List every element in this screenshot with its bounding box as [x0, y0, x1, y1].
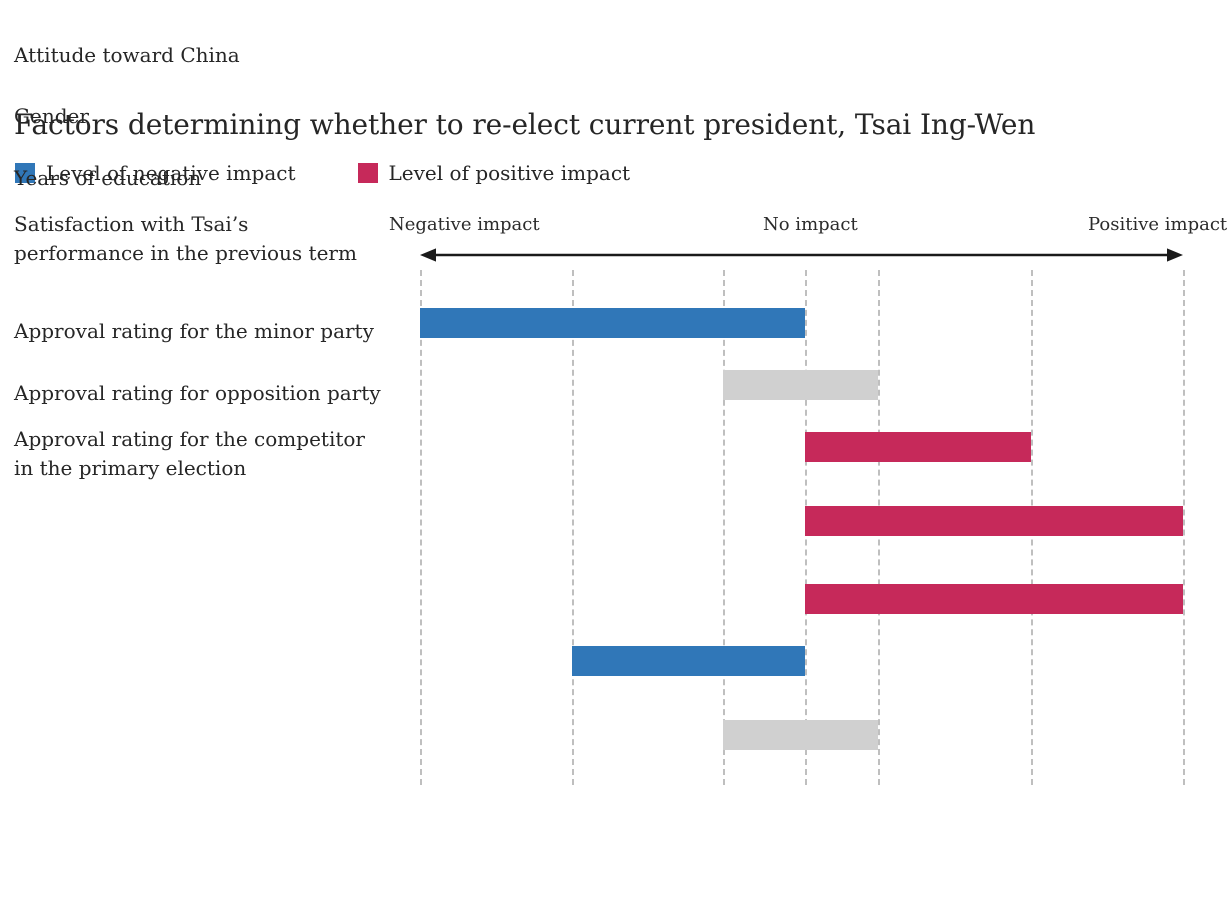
- page-title: Factors determining whether to re-elect …: [14, 108, 1035, 141]
- bidirectional-arrow-icon: [420, 248, 1183, 262]
- axis-label-negative-impact: Negative impact: [389, 214, 540, 235]
- category-label-satisfaction-performance: Satisfaction with Tsai’s performance in …: [14, 210, 357, 268]
- gridline: [1183, 270, 1185, 785]
- category-label-gender: Gender: [14, 102, 89, 131]
- legend-swatch-positive-icon: [358, 163, 378, 183]
- bar-attitude-toward-china[interactable]: [420, 308, 805, 338]
- bar-gender[interactable]: [723, 370, 878, 400]
- bar-minor-party[interactable]: [805, 584, 1183, 614]
- legend-label-positive: Level of positive impact: [389, 163, 631, 183]
- chart-page: Factors determining whether to re-elect …: [0, 0, 1232, 912]
- category-label-years-of-education: Years of education: [14, 164, 201, 193]
- bar-satisfaction-performance[interactable]: [805, 506, 1183, 536]
- gridline: [572, 270, 574, 785]
- legend-item-positive[interactable]: Level of positive impact: [358, 163, 631, 183]
- category-label-attitude-toward-china: Attitude toward China: [14, 41, 240, 70]
- bar-years-of-education[interactable]: [805, 432, 1031, 462]
- gridline: [420, 270, 422, 785]
- axis-label-no-impact: No impact: [763, 214, 858, 235]
- plot-area: [0, 270, 1232, 785]
- bar-opposition-party[interactable]: [572, 646, 805, 676]
- gridline: [723, 270, 725, 785]
- axis-label-positive-impact: Positive impact: [1088, 214, 1227, 235]
- bar-primary-competitor[interactable]: [723, 720, 878, 750]
